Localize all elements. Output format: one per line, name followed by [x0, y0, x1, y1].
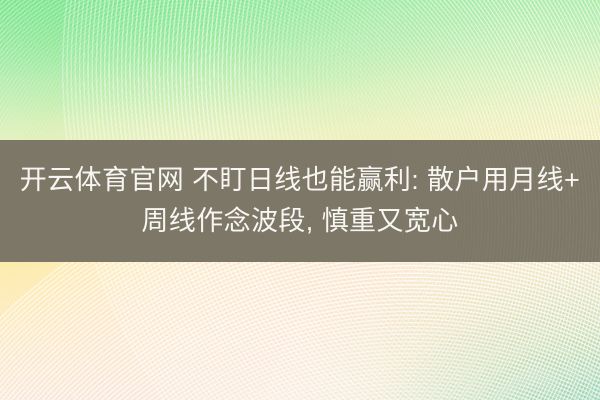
- background-bottom-gradient: [0, 255, 600, 400]
- article-banner: 开云体育官网 不盯日线也能赢利: 散户用月线+ 周线作念波段, 慎重又宽心: [0, 0, 600, 400]
- headline-band: 开云体育官网 不盯日线也能赢利: 散户用月线+ 周线作念波段, 慎重又宽心: [0, 140, 600, 262]
- headline-line-2: 周线作念波段, 慎重又宽心: [20, 201, 580, 242]
- headline-line-1: 开云体育官网 不盯日线也能赢利: 散户用月线+: [20, 160, 580, 201]
- page-title: 开云体育官网 不盯日线也能赢利: 散户用月线+ 周线作念波段, 慎重又宽心: [10, 160, 590, 242]
- background-peach-wash: [0, 255, 600, 400]
